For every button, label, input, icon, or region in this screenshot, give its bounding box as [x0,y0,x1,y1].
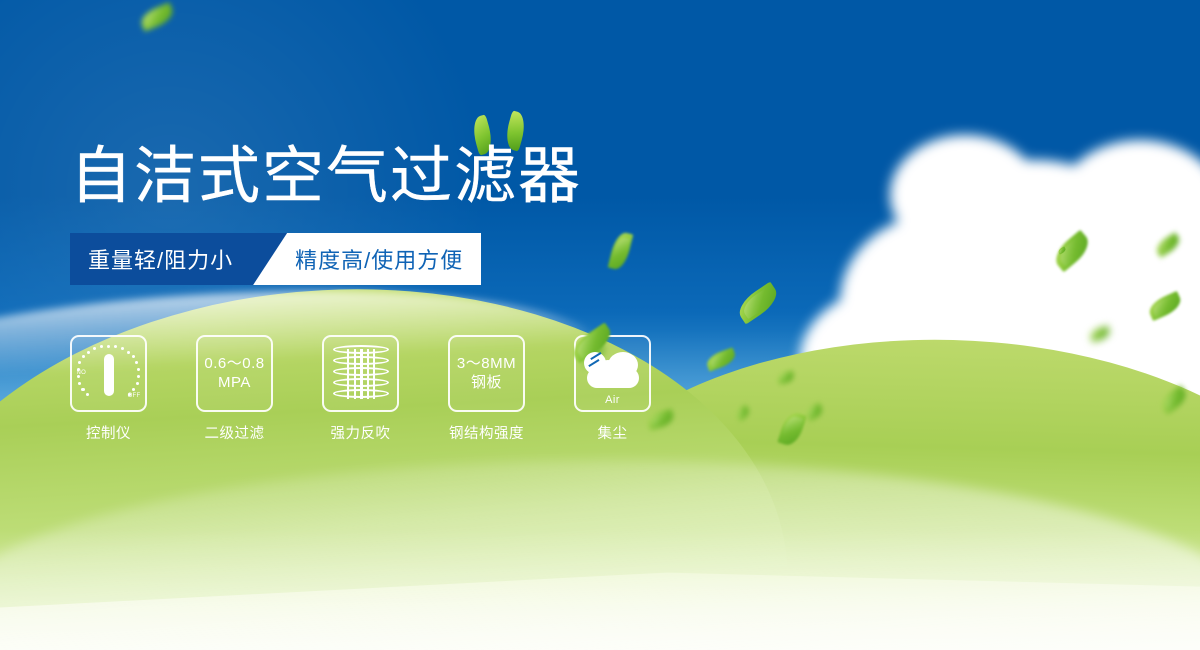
grass-highlight [0,530,1200,650]
feature-label: 钢结构强度 [449,422,524,443]
filter-cartridge-icon [333,345,389,403]
gauge-label-off: OFF [128,393,141,399]
feature-box: NO OFF [70,335,147,412]
subtitle-right: 精度高/使用方便 [287,233,481,285]
feature-label: 强力反吹 [331,422,391,443]
feature-item-steel[interactable]: 3～8MM 钢板 钢结构强度 [448,335,525,443]
air-label: Air [582,394,644,406]
subtitle-divider [253,233,287,285]
feature-text: 0.6～0.8 MPA [204,355,264,392]
feature-item-backblow[interactable]: 强力反吹 [322,335,399,443]
feature-text-line: 钢板 [457,374,516,392]
gauge-icon: NO OFF [78,344,140,404]
subtitle-bar: 重量轻/阻力小 精度高/使用方便 [70,233,481,285]
page-title: 自洁式空气过滤器 [70,146,582,208]
feature-box: Air [574,335,651,412]
feature-text: 3～8MM 钢板 [457,355,516,392]
gauge-needle [104,354,114,396]
grass-field [0,460,1200,650]
feature-item-dust[interactable]: Air 集尘 [574,335,651,443]
feature-label: 控制仪 [86,422,131,443]
feature-label: 二级过滤 [205,422,265,443]
feature-box [322,335,399,412]
feature-text-line: 0.6～0.8 [204,355,264,373]
product-banner: 自洁式空气过滤器 重量轻/阻力小 精度高/使用方便 [0,0,1200,650]
feature-list: NO OFF 控制仪 0.6～0.8 MPA 二级过滤 [70,335,651,443]
feature-text-line: MPA [204,374,264,392]
feature-item-control[interactable]: NO OFF 控制仪 [70,335,147,443]
feature-item-filtration[interactable]: 0.6～0.8 MPA 二级过滤 [196,335,273,443]
subtitle-left: 重量轻/阻力小 [70,233,253,285]
feature-box: 3～8MM 钢板 [448,335,525,412]
feature-box: 0.6～0.8 MPA [196,335,273,412]
gauge-label-no: NO [77,370,87,376]
feature-text-line: 3～8MM [457,355,516,373]
cloud-air-icon: Air [582,346,644,402]
feature-label: 集尘 [598,422,628,443]
